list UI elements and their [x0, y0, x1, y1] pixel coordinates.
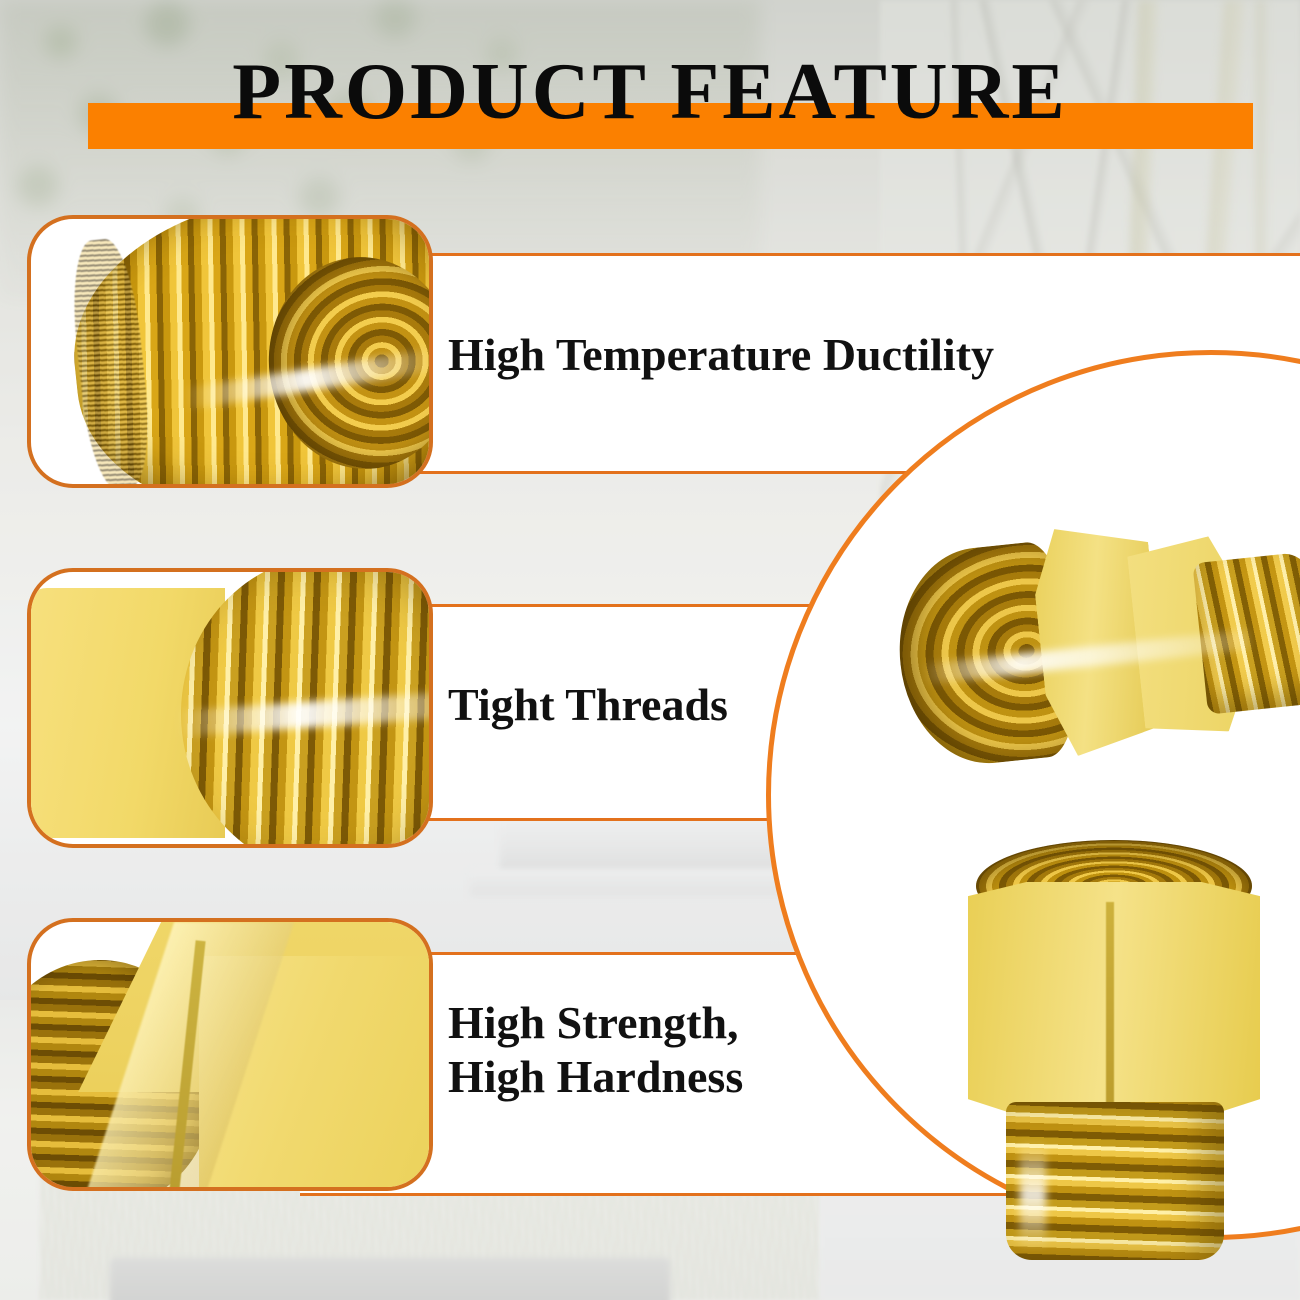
feature-label-2: Tight Threads — [448, 678, 728, 732]
product-image-bushing — [960, 840, 1280, 1260]
feature-thumbnail-3 — [27, 918, 433, 1191]
hex-corner-seam-icon — [1106, 902, 1114, 1120]
product-image-adapter — [900, 495, 1300, 795]
feature-thumbnail-2 — [27, 568, 433, 848]
specular-highlight-icon — [1020, 1140, 1046, 1250]
product-feature-infographic: PRODUCT FEATURE High Temperature Ductili… — [0, 0, 1300, 1300]
hex-body-icon — [968, 882, 1260, 1118]
page-title: PRODUCT FEATURE — [0, 52, 1300, 132]
feature-label-1: High Temperature Ductility — [448, 328, 994, 382]
feature-label-3: High Strength, High Hardness — [448, 996, 743, 1105]
feature-thumbnail-1 — [27, 215, 433, 488]
